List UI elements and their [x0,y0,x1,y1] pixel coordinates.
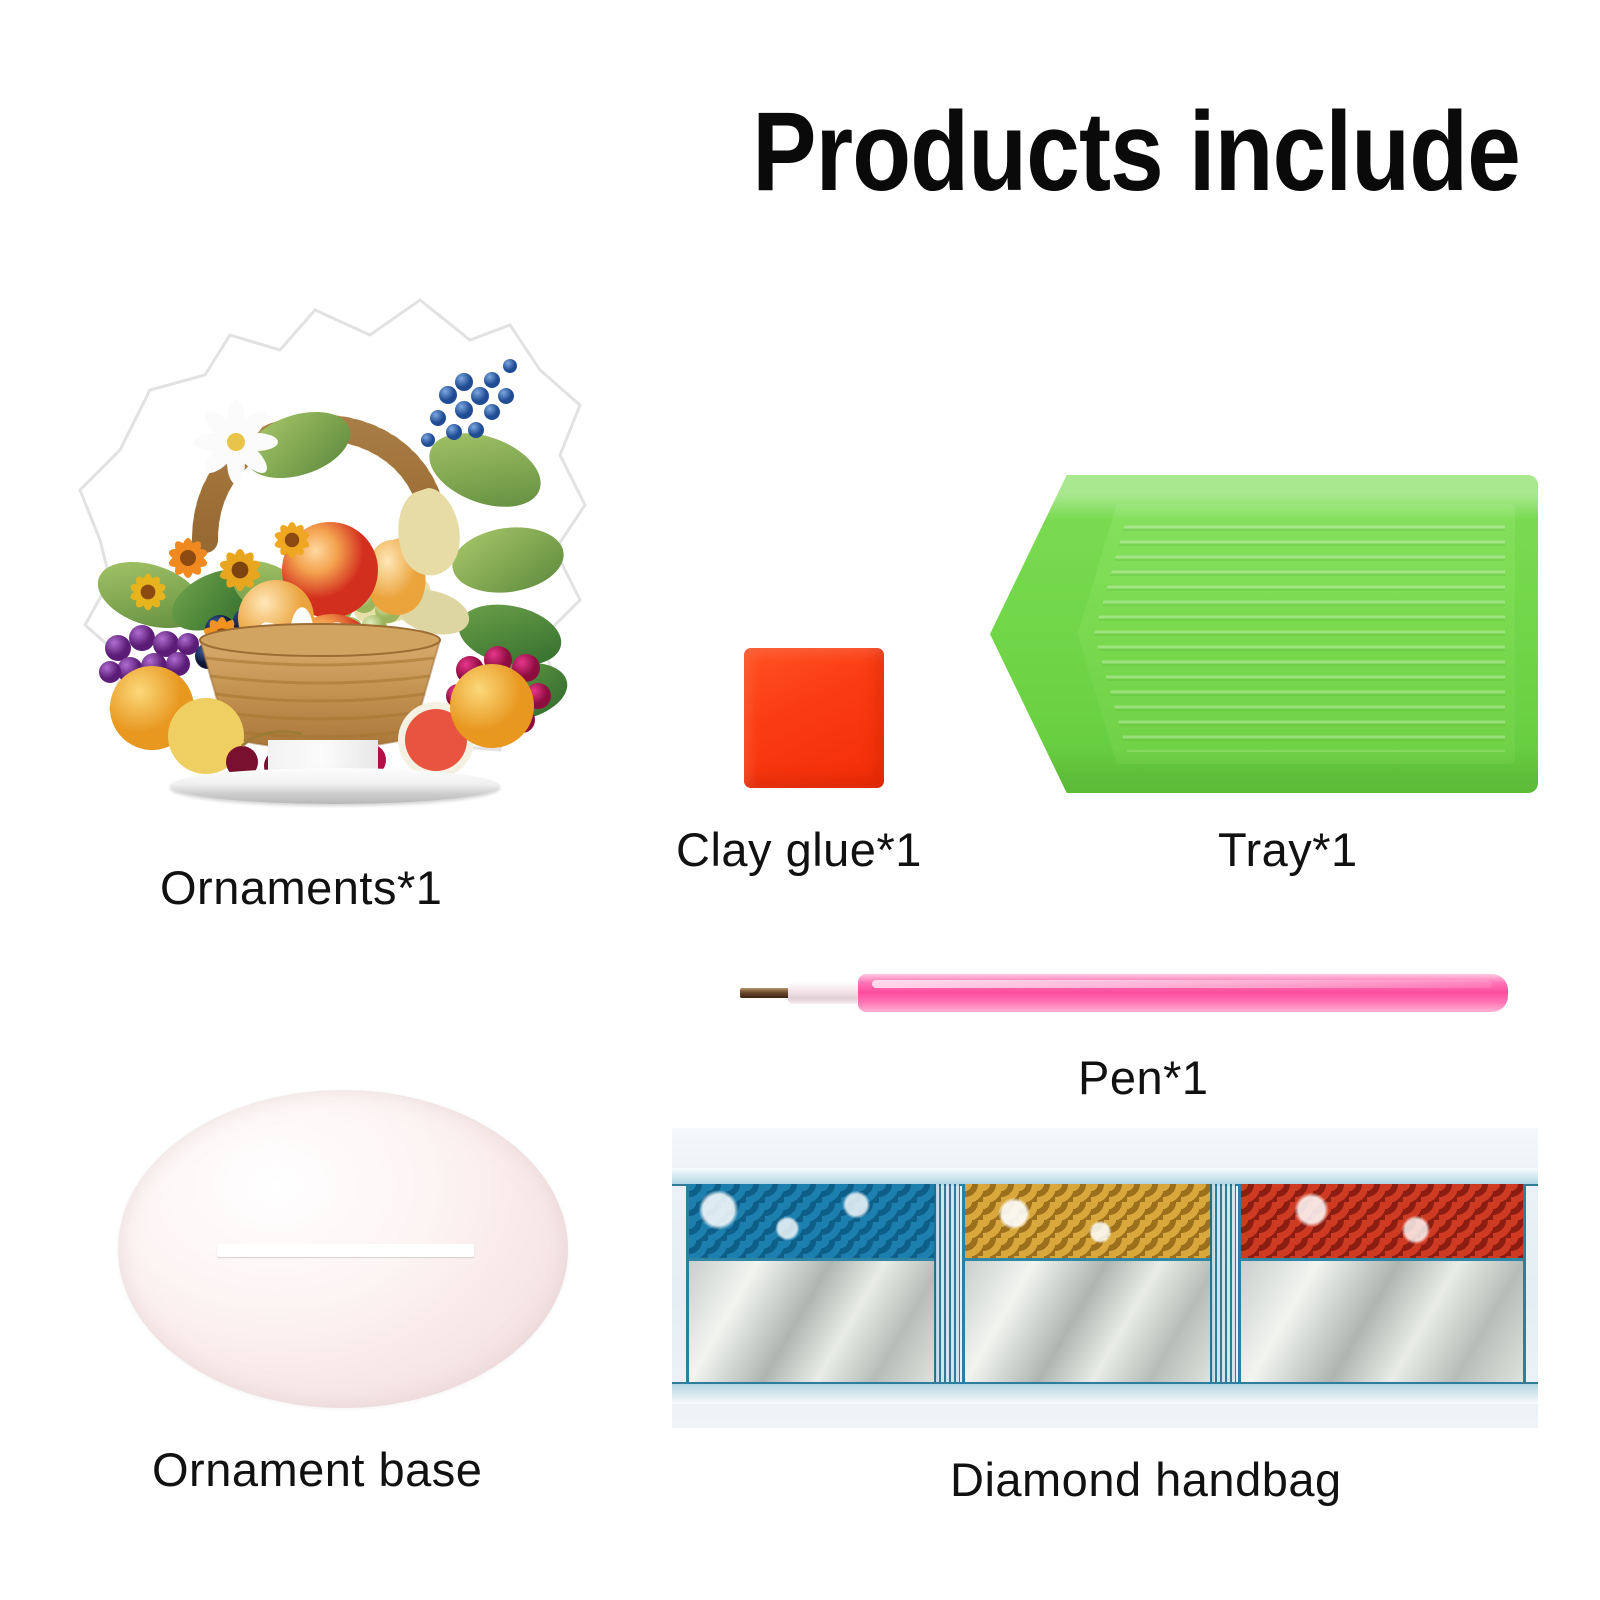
red-rhinestones [1241,1184,1523,1258]
clay-glue-product-figure [744,648,884,788]
page-title: Products include [752,96,1517,208]
ornament-base-product-figure [118,1090,568,1408]
bag-cell-blue [686,1184,938,1384]
tray-caption: Tray*1 [1218,822,1358,877]
pen-product-figure [740,962,1508,1024]
ornament-base-slot [217,1244,474,1257]
ornament-stand-base [170,768,500,804]
bag-foil-backing [1241,1258,1523,1384]
ornaments-caption: Ornaments*1 [160,860,442,915]
bag-cell-gold [962,1184,1214,1384]
clay-glue-caption: Clay glue*1 [676,822,922,877]
bag-zip-seal-2 [1210,1184,1236,1384]
blue-rhinestones [689,1184,935,1258]
bag-zip-seal-1 [934,1184,960,1384]
bag-foil-backing [965,1258,1211,1384]
diamond-handbag-product-figure [672,1128,1538,1428]
pen-gloss-highlight [872,980,1492,988]
tray-rim-highlight [990,475,1538,793]
clay-glue-square-icon [744,648,884,788]
bag-bottom-edge [672,1382,1538,1404]
bag-foil-backing [689,1258,935,1384]
diamond-handbag-caption: Diamond handbag [950,1452,1342,1507]
bag-cell-red [1238,1184,1526,1384]
ornaments-product-figure [40,240,600,820]
pen-ferrule [788,982,864,1004]
pen-caption: Pen*1 [1078,1050,1209,1105]
ornament-base-caption: Ornament base [152,1442,482,1497]
fruit-basket-diamond-ornament-icon [40,240,600,800]
tray-product-figure [990,475,1538,793]
pen-metal-tip-icon [740,988,792,998]
gold-rhinestones [965,1184,1211,1258]
